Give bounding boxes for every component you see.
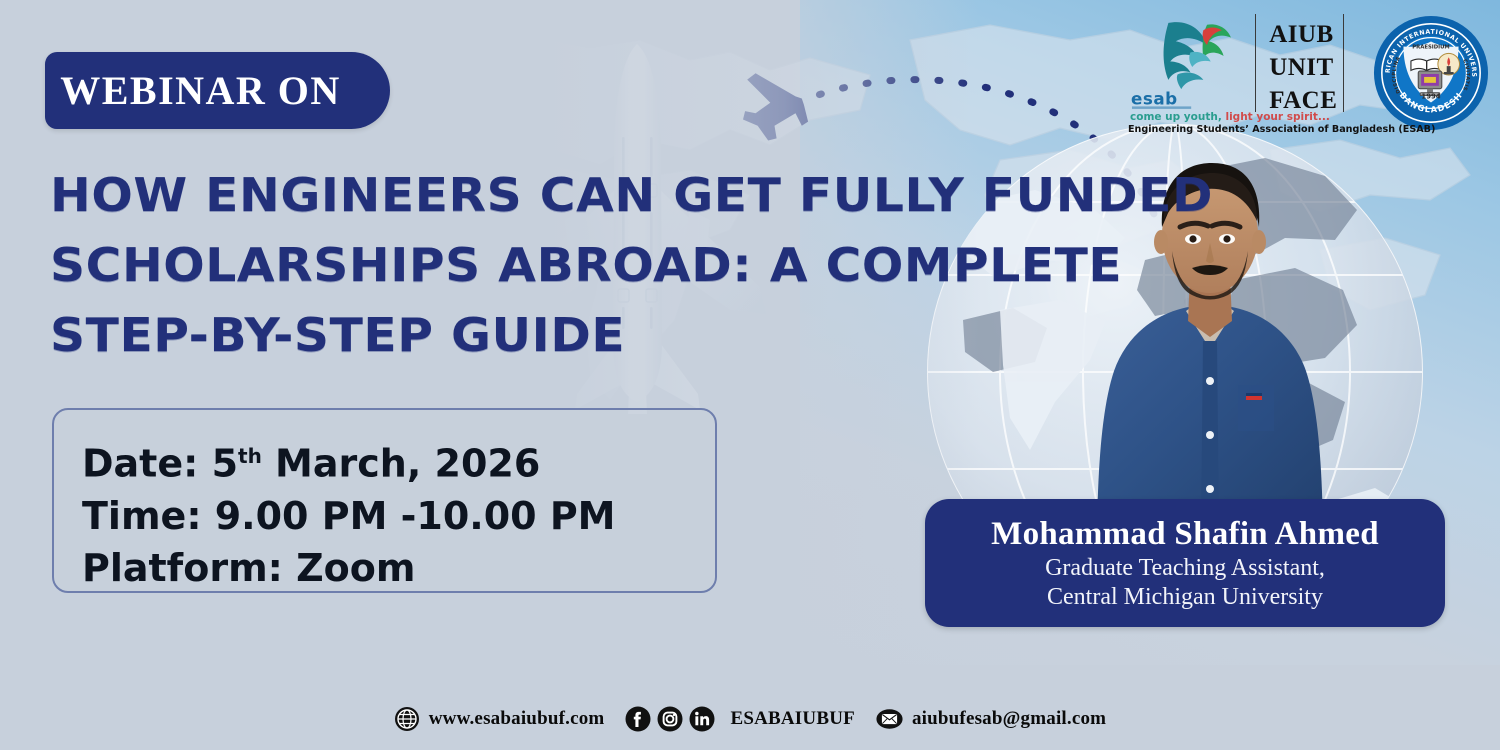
airplane-route-icon: [743, 73, 808, 140]
platform-label: Platform:: [82, 546, 283, 590]
esab-tagline-part1: come up youth,: [1130, 111, 1222, 123]
footer-contact-bar: www.esabaiubuf.com ESABAIUBUF: [0, 706, 1500, 732]
esab-logo: esab come up youth, light your spirit...…: [1128, 8, 1249, 133]
date-ordinal: th: [238, 444, 262, 468]
seal-year: 1994: [1421, 93, 1440, 101]
svg-text:esab: esab: [1131, 88, 1178, 108]
esab-wordmark: esab: [1130, 86, 1204, 114]
event-platform-row: Platform: Zoom: [82, 542, 715, 594]
aiub-unit-face-wordmark: AIUB UNIT FACE: [1269, 8, 1337, 117]
email-item[interactable]: aiubufesab@gmail.com: [876, 708, 1106, 730]
date-rest: March, 2026: [262, 442, 540, 486]
globe-icon: [394, 706, 420, 732]
esab-tagline-part2: light your spirit...: [1222, 111, 1330, 123]
event-date-row: Date: 5th March, 2026: [82, 430, 715, 490]
webinar-badge-label: WEBINAR ON: [60, 67, 375, 114]
social-item[interactable]: ESABAIUBUF: [625, 706, 854, 732]
event-time-row: Time: 9.00 PM -10.00 PM: [82, 490, 715, 542]
date-day: 5: [212, 442, 238, 486]
speaker-name: Mohammad Shafin Ahmed: [991, 514, 1379, 554]
webinar-badge: WEBINAR ON: [45, 52, 390, 129]
envelope-icon: [876, 708, 903, 730]
logo-divider: [1255, 14, 1256, 112]
date-label: Date:: [82, 442, 198, 486]
social-handle-text: ESABAIUBUF: [730, 708, 854, 730]
speaker-role-line-1: Graduate Teaching Assistant,: [1045, 554, 1325, 583]
aiub-word-line-1: AIUB: [1269, 18, 1337, 51]
linkedin-icon[interactable]: [689, 706, 715, 732]
aiub-word-line-2: UNIT: [1269, 51, 1337, 84]
seal-motto-top: PRAESIDIUM: [1412, 44, 1449, 50]
event-details-box: Date: 5th March, 2026 Time: 9.00 PM -10.…: [52, 408, 717, 593]
time-value: 9.00 PM -10.00 PM: [202, 494, 616, 538]
page-title: HOW ENGINEERS CAN GET FULLY FUNDED SCHOL…: [50, 160, 1000, 370]
webinar-poster: WEBINAR ON HOW ENGINEERS CAN GET FULLY F…: [0, 0, 1500, 750]
title-line-2: SCHOLARSHIPS ABROAD: A COMPLETE: [50, 230, 1057, 300]
website-text: www.esabaiubuf.com: [429, 708, 605, 730]
speaker-nameplate: Mohammad Shafin Ahmed Graduate Teaching …: [925, 499, 1445, 627]
speaker-role-line-2: Central Michigan University: [1047, 583, 1323, 612]
esab-tagline: come up youth, light your spirit...: [1130, 111, 1330, 123]
facebook-icon[interactable]: [625, 706, 651, 732]
instagram-icon[interactable]: [657, 706, 683, 732]
website-item[interactable]: www.esabaiubuf.com: [394, 706, 605, 732]
email-text: aiubufesab@gmail.com: [912, 708, 1106, 730]
logo-bar: esab come up youth, light your spirit...…: [1128, 8, 1490, 138]
logo-divider-2: [1343, 14, 1344, 112]
esab-subtitle: Engineering Students’ Association of Ban…: [1128, 124, 1338, 135]
title-line-3: STEP-BY-STEP GUIDE: [50, 300, 1057, 370]
platform-value: Zoom: [283, 546, 416, 590]
time-label: Time:: [82, 494, 202, 538]
aiub-seal: AMERICAN INTERNATIONAL UNIVERSITY BANGLA…: [1372, 14, 1490, 137]
title-line-1: HOW ENGINEERS CAN GET FULLY FUNDED: [50, 160, 1057, 230]
